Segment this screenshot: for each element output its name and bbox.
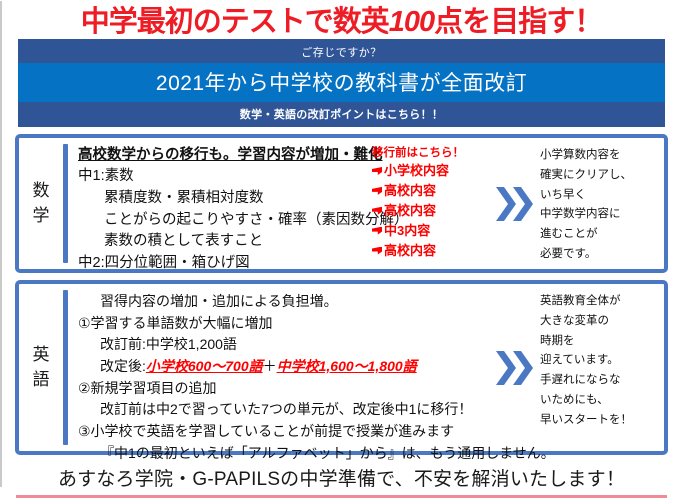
banner-headline: 2021年から中学校の教科書が全面改訂 — [18, 63, 665, 102]
math-annotation-label: 高校内容 — [384, 201, 436, 221]
math-chevron-group — [492, 138, 538, 269]
headline-part1: 中学最初のテストで数英 — [81, 6, 389, 38]
english-note-line: いためにも、 — [540, 391, 658, 411]
english-item3-body: 『中1の最初といえば「アルファベット」から』は、もう通用しません。 — [78, 443, 492, 465]
english-item1-after: 改定後:小学校600〜700語＋中学校1,600〜1,800語 — [78, 356, 492, 378]
english-item3-title: ③小学校で英語を学習していることが前提で授業が進みます — [78, 421, 492, 443]
headline-text: 中学最初のテストで数英100点を目指す！ — [81, 0, 602, 40]
english-item1-title: ①学習する単語数が大幅に増加 — [78, 313, 492, 335]
math-annotation-label: 高校内容 — [384, 181, 436, 201]
math-annotation-title: 移行前はこちら！ — [372, 145, 492, 161]
english-item1-before: 改訂前:中学校1,200語 — [78, 334, 492, 356]
english-intro-line: 習得内容の増加・追加による負担増。 — [78, 291, 492, 313]
double-chevron-right-icon — [494, 345, 536, 391]
math-subject-char-1: 数 — [33, 179, 50, 204]
banner-footnote: 数学・英語の改訂ポイントはこちら！！ — [18, 102, 665, 127]
math-line: ことがらの起こりやすさ・確率（素因数分解） — [78, 210, 366, 232]
math-note-line: 必要です。 — [540, 245, 658, 265]
math-note-column: 小学算数内容を 確実にクリアし、 いち早く 中学数学内容に 進むことが 必要です… — [538, 138, 664, 269]
math-note-line: 中学数学内容に — [540, 205, 658, 225]
english-subject-char-2: 語 — [33, 368, 50, 393]
poster-headline: 中学最初のテストで数英100点を目指す！ — [2, 1, 681, 37]
english-content: 習得内容の増加・追加による負担増。 ①学習する単語数が大幅に増加 改訂前:中学校… — [68, 284, 492, 451]
english-panel: 英 語 習得内容の増加・追加による負担増。 ①学習する単語数が大幅に増加 改訂前… — [15, 280, 668, 455]
math-subject-char-2: 学 — [33, 204, 50, 229]
english-subject-tab: 英 語 — [19, 284, 63, 451]
math-note-line: 小学算数内容を — [540, 146, 658, 166]
math-subject-tab: 数 学 — [19, 138, 63, 269]
math-note-line: 進むことが — [540, 225, 658, 245]
math-annotation-item: 高校内容 — [372, 241, 492, 261]
english-item1-after-juniorhigh: 中学校1,600〜1,800語 — [277, 358, 417, 374]
arrow-left-icon — [372, 227, 382, 235]
english-note-column: 英語教育全体が 大きな変革の 時期を 迎えています。 手遅れにならな いためにも… — [538, 284, 664, 451]
english-subject-label: 英 語 — [33, 343, 50, 392]
poster-footer: あすなろ学院・G-PAPILSの中学準備で、不安を解消いたします！ — [16, 464, 667, 498]
math-line: 中1:素数 — [78, 166, 366, 188]
english-item2-title: ②新規学習項目の追加 — [78, 378, 492, 400]
english-note-line: 時期を — [540, 332, 658, 352]
math-annotation-label: 高校内容 — [384, 241, 436, 261]
math-annotation-item: 小学校内容 — [372, 161, 492, 181]
english-panel-body: 習得内容の増加・追加による負担増。 ①学習する単語数が大幅に増加 改訂前:中学校… — [68, 284, 664, 451]
english-item1-after-plus: ＋ — [263, 358, 277, 374]
arrow-left-icon — [372, 207, 382, 215]
english-note-line: 早いスタートを！ — [540, 411, 658, 431]
math-note-line: 確実にクリアし、 — [540, 166, 658, 186]
math-annotation-item: 中3内容 — [372, 221, 492, 241]
english-chevron-group — [492, 284, 538, 451]
headline-part2: 点を目指す！ — [434, 6, 602, 38]
math-subject-label: 数 学 — [33, 179, 50, 228]
announcement-banner: ご存じですか？ 2021年から中学校の教科書が全面改訂 数学・英語の改訂ポイント… — [18, 39, 665, 127]
math-panel-body: 高校数学からの移行も。学習内容が増加・難化 中1:素数 累積度数・累積相対度数 … — [68, 138, 664, 269]
headline-number: 100 — [389, 6, 434, 38]
english-note-line: 英語教育全体が — [540, 292, 658, 312]
math-line: 素数の積として表すこと — [78, 231, 366, 253]
english-item1-after-label: 改定後: — [100, 358, 146, 374]
banner-subtitle: ご存じですか？ — [18, 39, 665, 63]
arrow-left-icon — [372, 247, 382, 255]
poster-root: 中学最初のテストで数英100点を目指す！ ご存じですか？ 2021年から中学校の… — [2, 1, 681, 487]
arrow-left-icon — [372, 187, 382, 195]
english-subject-char-1: 英 — [33, 343, 50, 368]
english-note-line: 大きな変革の — [540, 312, 658, 332]
math-annotation-column: 移行前はこちら！ 小学校内容 高校内容 高校内容 中3内容 — [366, 138, 492, 269]
math-annotation-label: 中3内容 — [384, 221, 430, 241]
english-item1-after-elementary: 小学校600〜700語 — [146, 358, 263, 374]
math-annotation-item: 高校内容 — [372, 201, 492, 221]
english-note-line: 迎えています。 — [540, 351, 658, 371]
math-line: 中2:四分位範囲・箱ひげ図 — [78, 253, 366, 275]
math-panel: 数 学 高校数学からの移行も。学習内容が増加・難化 中1:素数 累積度数・累積相… — [15, 134, 668, 273]
math-line: 累積度数・累積相対度数 — [78, 188, 366, 210]
english-note-line: 手遅れにならな — [540, 371, 658, 391]
math-annotation-label: 小学校内容 — [384, 161, 449, 181]
math-heading: 高校数学からの移行も。学習内容が増加・難化 — [78, 145, 366, 166]
arrow-left-icon — [372, 167, 382, 175]
double-chevron-right-icon — [494, 181, 536, 227]
math-annotation-item: 高校内容 — [372, 181, 492, 201]
english-item2-body: 改訂前は中2で習っていた7つの単元が、改定後中1に移行！ — [78, 399, 492, 421]
footer-text: あすなろ学院・G-PAPILSの中学準備で、不安を解消いたします！ — [16, 464, 667, 491]
math-content: 高校数学からの移行も。学習内容が増加・難化 中1:素数 累積度数・累積相対度数 … — [68, 138, 366, 269]
math-note-line: いち早く — [540, 186, 658, 206]
